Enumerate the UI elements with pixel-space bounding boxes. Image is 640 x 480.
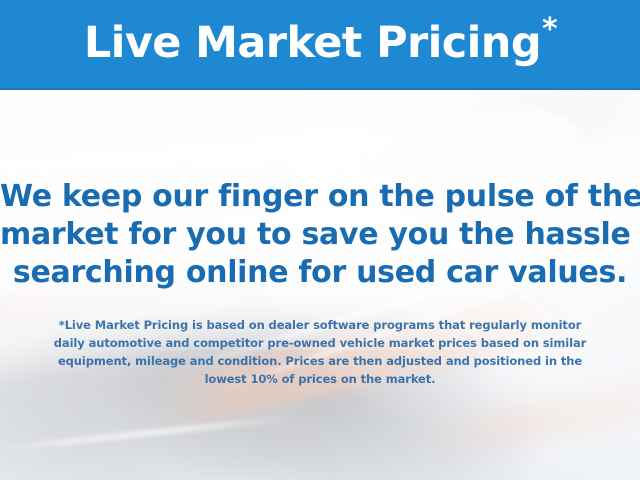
live-market-pricing-card: Live Market Pricing* We keep our finger … <box>0 0 640 480</box>
header-banner: Live Market Pricing* <box>0 0 640 90</box>
background-orange-streak-right <box>418 379 640 460</box>
headline-line-3: searching online for used car values. <box>0 254 640 292</box>
page-title-text: Live Market Pricing <box>84 18 541 68</box>
headline-line-1: We keep our finger on the pulse of the <box>0 178 640 216</box>
page-title: Live Market Pricing* <box>84 22 556 65</box>
background-pinstripe-5 <box>1 414 300 451</box>
headline: We keep our finger on the pulse of the m… <box>0 178 640 292</box>
disclaimer-line-2: daily automotive and competitor pre-owne… <box>0 334 640 352</box>
disclaimer-line-4: lowest 10% of prices on the market. <box>0 370 640 388</box>
disclaimer-text: *Live Market Pricing is based on dealer … <box>0 316 640 388</box>
disclaimer-line-3: equipment, mileage and condition. Prices… <box>0 352 640 370</box>
background-warm-blob-top-right <box>440 100 620 170</box>
disclaimer-line-1: *Live Market Pricing is based on dealer … <box>0 316 640 334</box>
page-title-asterisk: * <box>542 12 557 47</box>
headline-line-2: market for you to save you the hassle of <box>0 216 640 254</box>
